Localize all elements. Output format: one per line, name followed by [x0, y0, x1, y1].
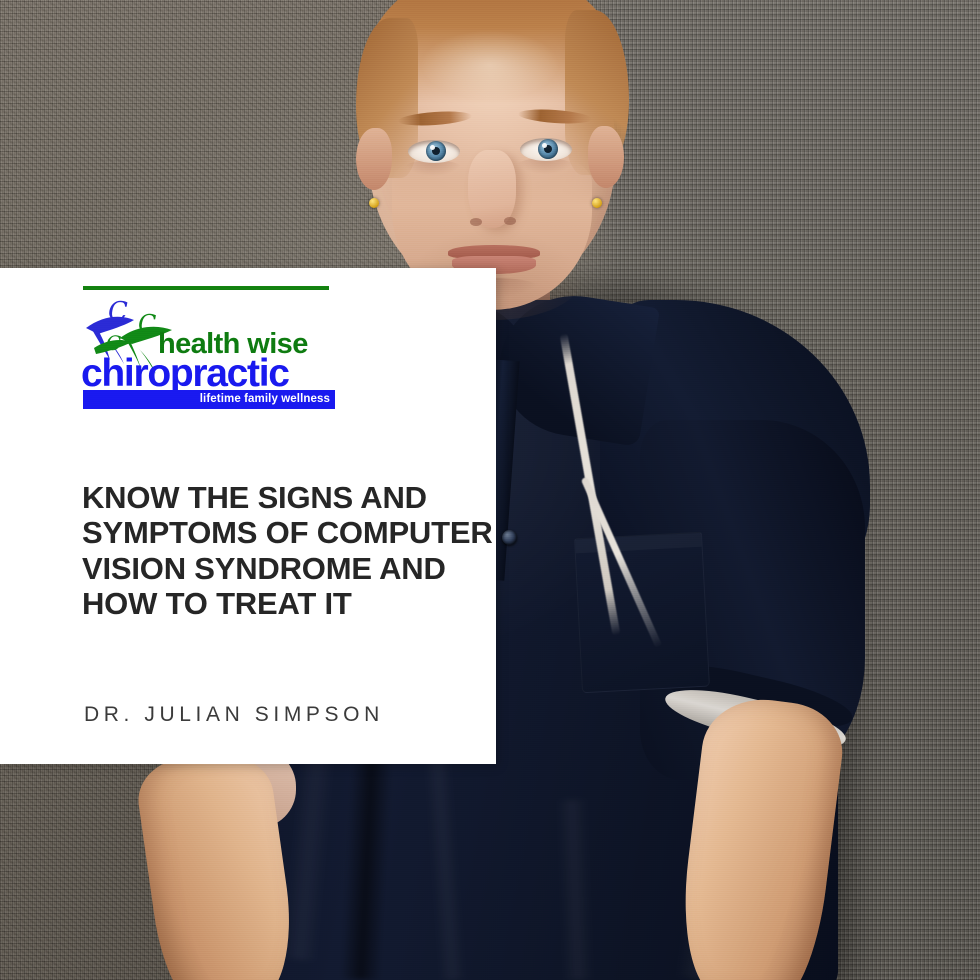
- logo-tagline-text: lifetime family wellness: [200, 390, 330, 409]
- subject-eye-glint-left: [430, 145, 435, 150]
- shirt-button-icon: [502, 530, 517, 545]
- page-title: Know the signs and symptoms of computer …: [82, 480, 500, 621]
- svg-text:C: C: [108, 297, 128, 327]
- brand-logo[interactable]: C C C health wise chiropractic lifetime …: [80, 286, 338, 409]
- subject-eye-glint-right: [542, 143, 547, 148]
- subject-ear-left: [356, 128, 392, 190]
- svg-text:C: C: [138, 310, 156, 338]
- poster-canvas: C C C health wise chiropractic lifetime …: [0, 0, 980, 980]
- logo-wordmark-bottom: chiropractic: [81, 354, 289, 393]
- subject-ear-right: [588, 126, 624, 188]
- subject-nostril-left: [470, 218, 482, 226]
- author-byline: Dr. Julian Simpson: [84, 703, 384, 727]
- subject-nostril-right: [504, 217, 516, 225]
- subject-forehead-highlight: [420, 30, 560, 100]
- shirt-fold-highlight: [557, 800, 593, 980]
- earring-icon: [369, 198, 379, 208]
- logo-top-rule: [83, 286, 329, 290]
- content-card: C C C health wise chiropractic lifetime …: [0, 268, 496, 764]
- earring-icon: [592, 198, 602, 208]
